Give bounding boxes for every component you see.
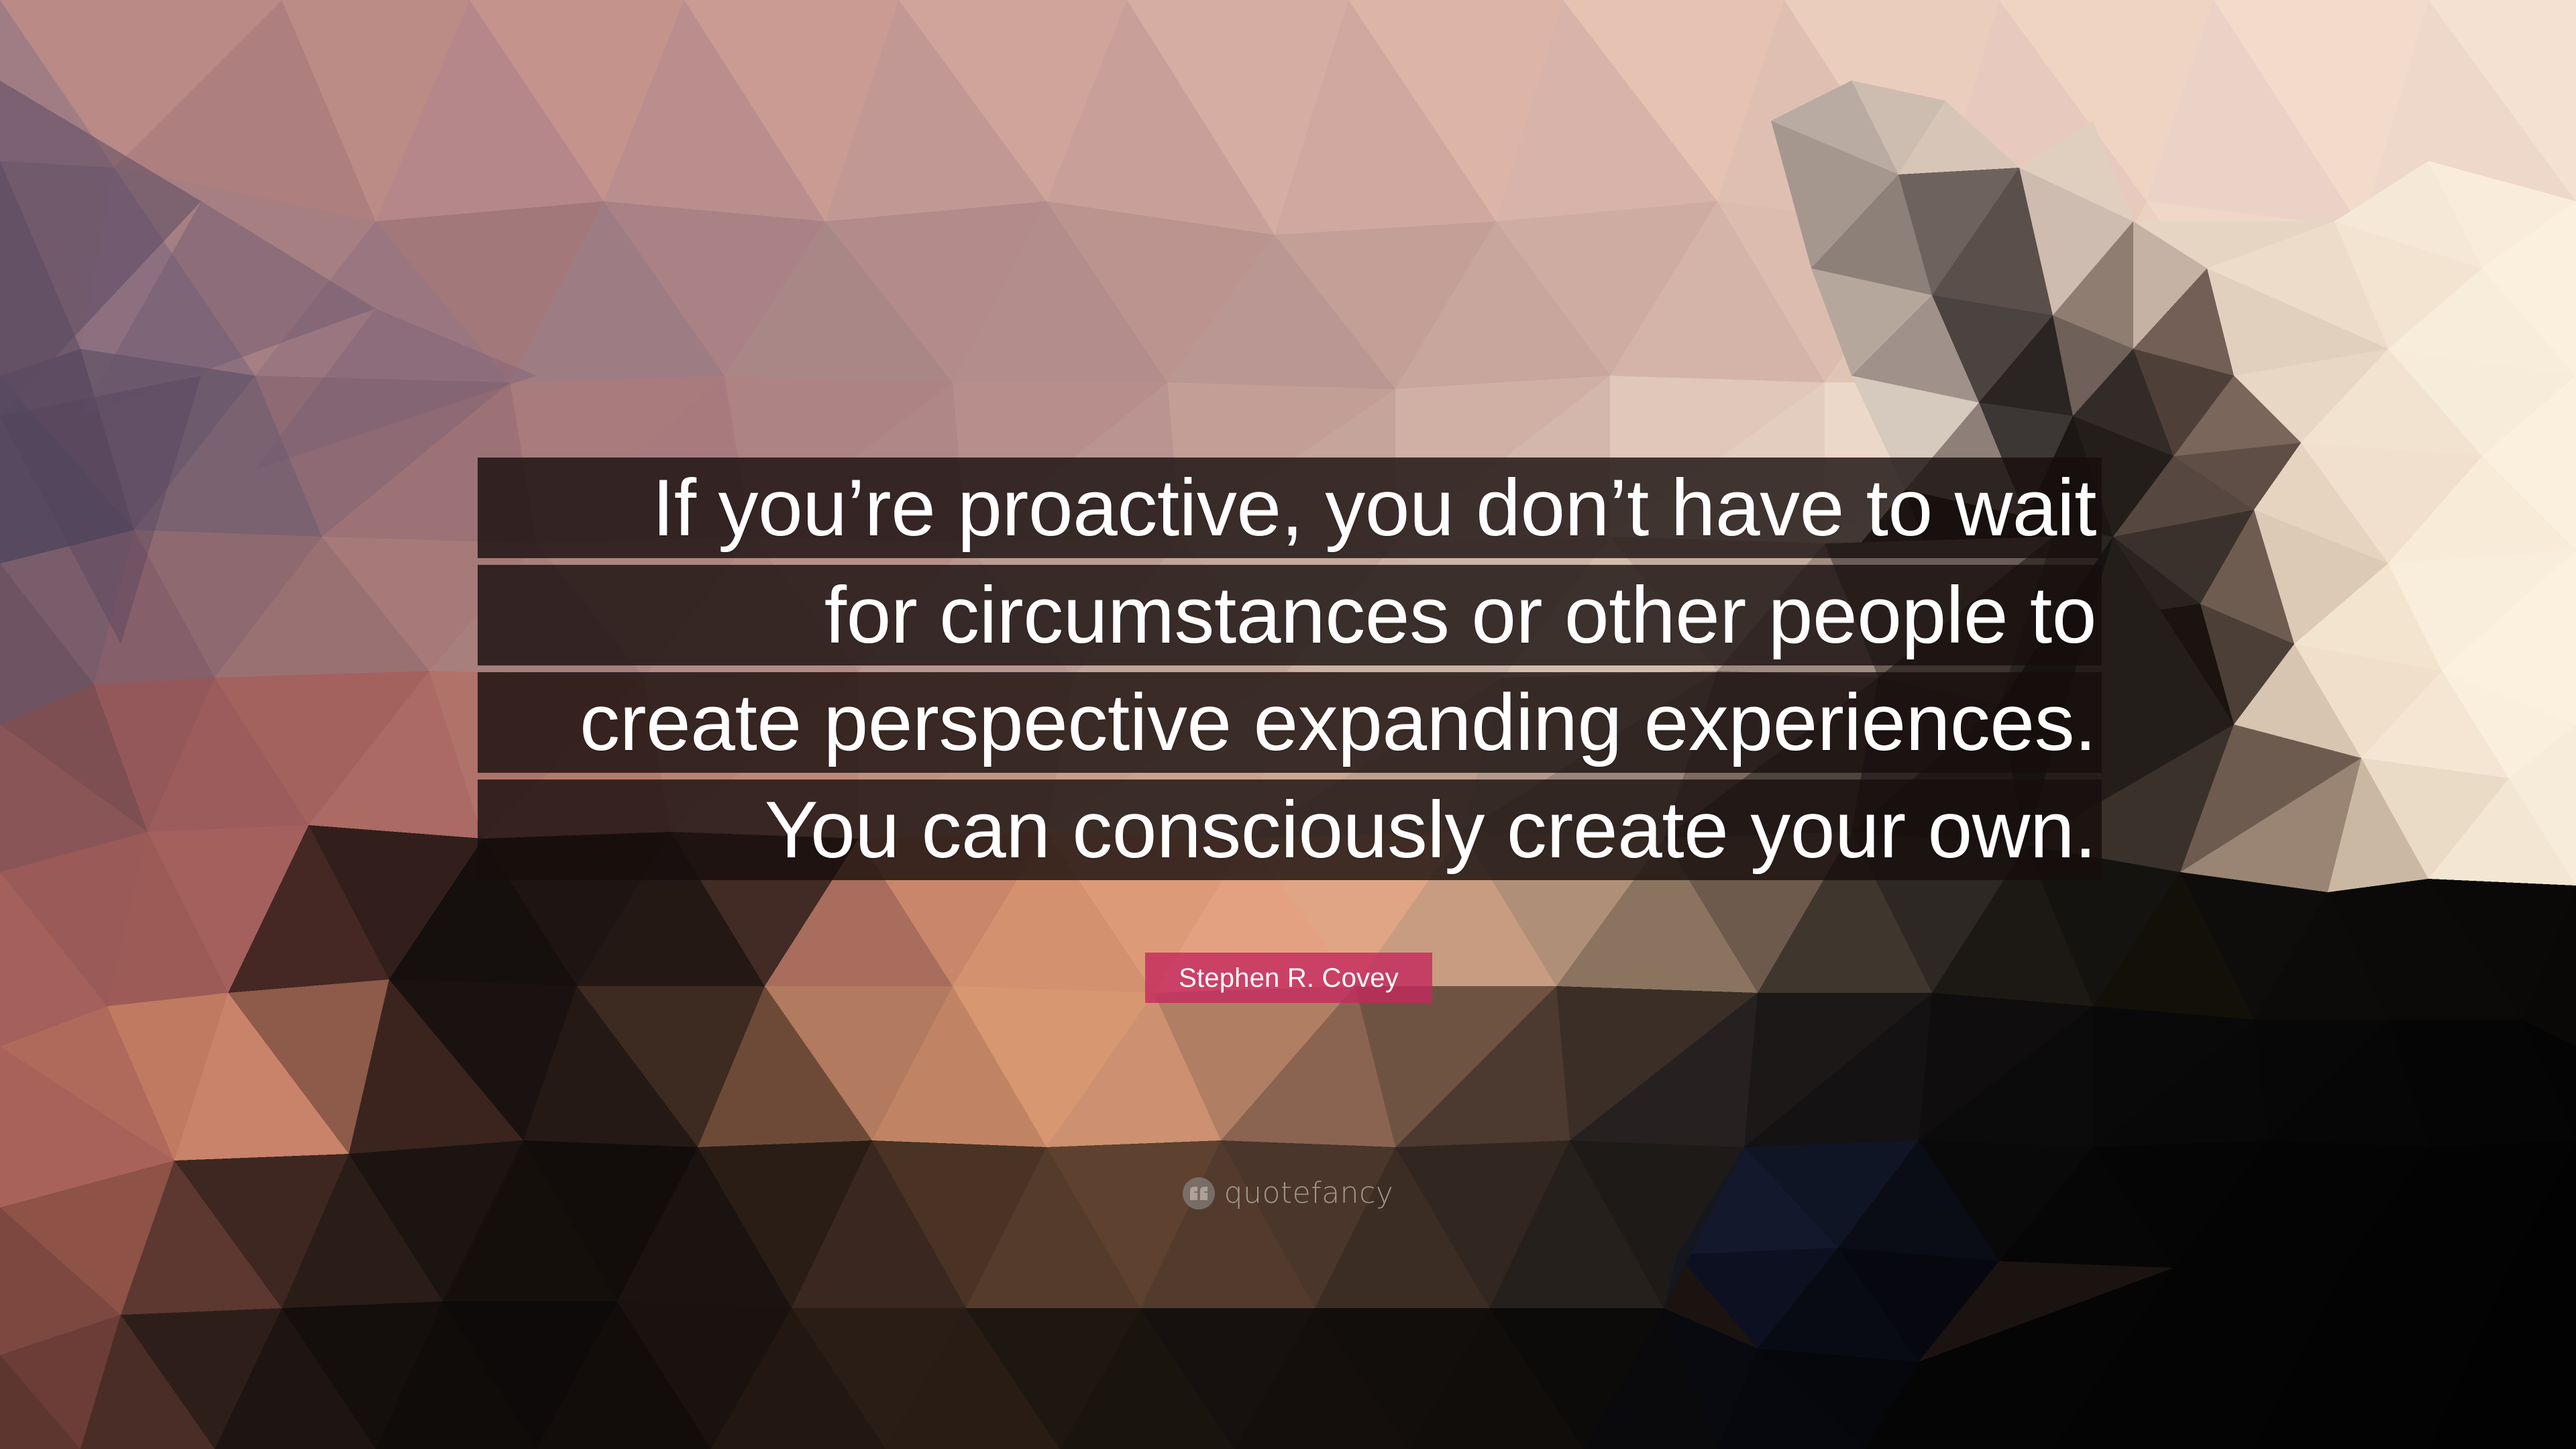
quote-line-text: for circumstances or other people to [824, 575, 2096, 655]
quote-text-block: If you’re proactive, you don’t have to w… [478, 458, 2102, 880]
quote-line: You can consciously create your own. [478, 780, 2102, 880]
quote-line-text: If you’re proactive, you don’t have to w… [652, 468, 2096, 548]
quote-line: create perspective expanding experiences… [478, 672, 2102, 773]
quote-line: If you’re proactive, you don’t have to w… [478, 458, 2102, 558]
quote-line-text: You can consciously create your own. [765, 790, 2096, 870]
quote-line: for circumstances or other people to [478, 565, 2102, 665]
quote-wallpaper: If you’re proactive, you don’t have to w… [0, 0, 2576, 1449]
author-name: Stephen R. Covey [1179, 965, 1399, 991]
author-badge: Stephen R. Covey [1145, 953, 1432, 1003]
quote-line-text: create perspective expanding experiences… [580, 682, 2096, 763]
